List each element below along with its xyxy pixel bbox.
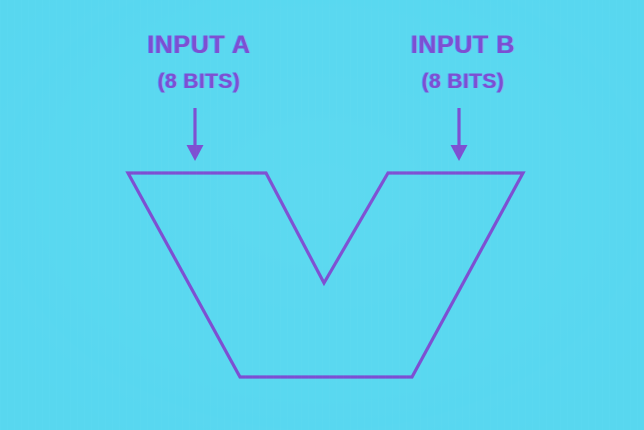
diagram-canvas: INPUT A (8 BITS) INPUT B (8 BITS) (0, 0, 644, 430)
arrow-input-b-head-icon (451, 145, 468, 161)
diagram-vector-layer (0, 0, 644, 430)
arrow-input-b (451, 108, 468, 161)
arrow-input-a-head-icon (187, 145, 204, 161)
alu-symbol (128, 173, 523, 377)
arrow-input-a (187, 108, 204, 161)
